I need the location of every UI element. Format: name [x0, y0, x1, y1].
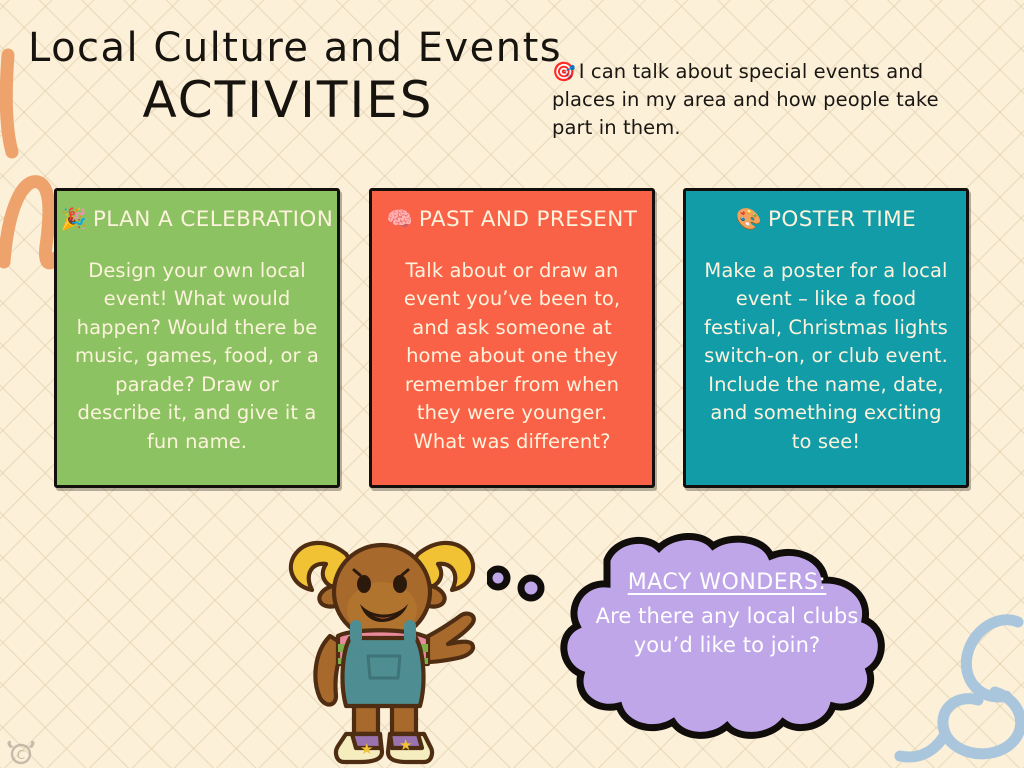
macy-the-moose-mascot: ★ ★ — [268, 512, 500, 768]
thought-dot-small — [489, 569, 507, 587]
party-popper-icon: 🎉 — [61, 209, 87, 230]
moose-copyright-watermark: C — [4, 736, 38, 766]
card-header: 🧠 PAST AND PRESENT — [384, 207, 640, 232]
slide-header: Local Culture and Events ACTIVITIES 🎯I c… — [0, 0, 1024, 175]
thought-dot-medium — [521, 578, 541, 598]
card-title: PAST AND PRESENT — [419, 207, 637, 232]
thought-bubble: MACY WONDERS: Are there any local clubs … — [487, 532, 897, 747]
svg-text:C: C — [17, 748, 25, 762]
card-title: POSTER TIME — [768, 207, 916, 232]
card-body: Design your own local event! What would … — [69, 238, 325, 475]
learning-objective-text: I can talk about special events and plac… — [552, 60, 939, 139]
page-title-line-1: Local Culture and Events — [28, 26, 548, 70]
thought-cloud — [564, 536, 881, 735]
activity-card-poster-time[interactable]: 🎨 POSTER TIME Make a poster for a local … — [683, 188, 969, 488]
card-body: Make a poster for a local event – like a… — [698, 238, 954, 475]
eye-right — [393, 575, 407, 593]
blue-spiral-doodle — [943, 692, 1021, 754]
shoe-star-right: ★ — [399, 736, 412, 754]
blue-tail-doodle — [900, 736, 944, 757]
activity-card-plan-a-celebration[interactable]: 🎉 PLAN A CELEBRATION Design your own loc… — [54, 188, 340, 488]
eye-left — [357, 575, 371, 593]
overalls — [343, 638, 424, 706]
target-icon: 🎯 — [552, 61, 576, 83]
brain-icon: 🧠 — [387, 209, 413, 230]
card-text: Design your own local event! What would … — [75, 257, 319, 456]
artist-palette-icon: 🎨 — [736, 209, 762, 230]
title-block: Local Culture and Events ACTIVITIES — [28, 26, 548, 130]
page-title-line-2: ACTIVITIES — [28, 72, 548, 130]
card-header: 🎨 POSTER TIME — [698, 207, 954, 232]
card-text: Talk about or draw an event you’ve been … — [390, 257, 634, 456]
activity-cards: 🎉 PLAN A CELEBRATION Design your own loc… — [0, 188, 1024, 488]
thought-bubble-shape — [487, 532, 897, 747]
card-title: PLAN A CELEBRATION — [93, 207, 333, 232]
card-body: Talk about or draw an event you’ve been … — [384, 238, 640, 475]
blue-arc-doodle — [966, 620, 1018, 697]
activity-card-past-and-present[interactable]: 🧠 PAST AND PRESENT Talk about or draw an… — [369, 188, 655, 488]
learning-objective: 🎯I can talk about special events and pla… — [552, 58, 972, 141]
card-header: 🎉 PLAN A CELEBRATION — [69, 207, 325, 232]
card-text: Make a poster for a local event – like a… — [704, 257, 948, 456]
shoe-star-left: ★ — [360, 740, 373, 758]
